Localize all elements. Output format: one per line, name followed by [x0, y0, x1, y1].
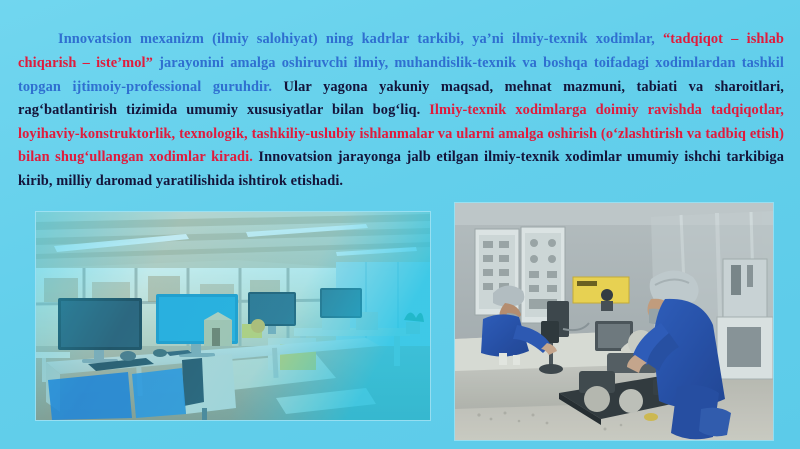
office-photo [36, 212, 430, 420]
paragraph-segment-1: Innovatsion mexanizm (ilmiy salohiyat) n… [58, 31, 663, 47]
laboratory-photo [455, 203, 773, 440]
laboratory-photo-art [455, 203, 773, 440]
office-photo-art [36, 212, 430, 420]
body-paragraph: Innovatsion mexanizm (ilmiy salohiyat) n… [18, 28, 784, 193]
slide-canvas: Innovatsion mexanizm (ilmiy salohiyat) n… [0, 0, 800, 449]
